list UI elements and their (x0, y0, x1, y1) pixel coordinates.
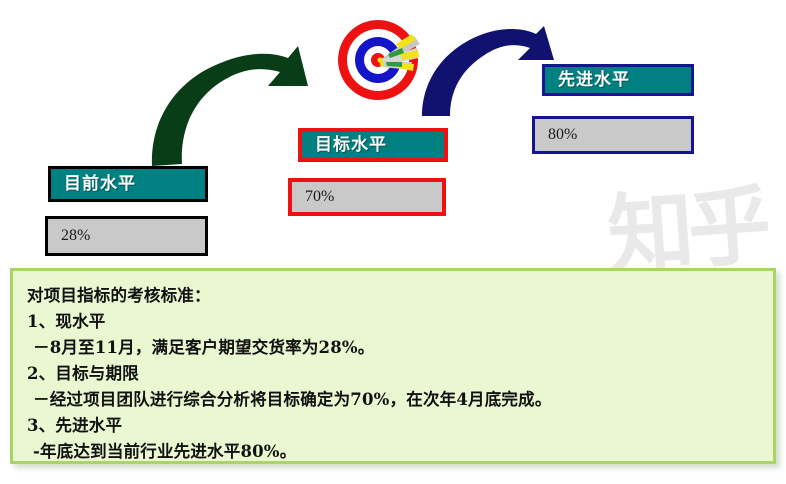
notes-line-5: 3、先进水平 (27, 413, 759, 439)
notes-line-3: 2、目标与期限 (27, 361, 759, 387)
dartboard-target-icon (336, 16, 424, 104)
slide-canvas: 知乎 (0, 0, 786, 484)
level-value-advanced: 80% (532, 116, 694, 154)
level-title-current: 目前水平 (48, 166, 208, 202)
level-group-target: 目标水平 70% (288, 128, 448, 216)
level-group-current: 目前水平 28% (45, 166, 208, 256)
level-value-current: 28% (45, 216, 208, 256)
level-title-target: 目标水平 (298, 128, 448, 162)
notes-line-0: 对项目指标的考核标准： (27, 283, 759, 309)
notes-line-2: －8月至11月，满足客户期望交货率为28%。 (27, 335, 759, 361)
level-value-target: 70% (288, 178, 446, 216)
notes-line-4: －经过项目团队进行综合分析将目标确定为70%，在次年4月底完成。 (27, 387, 759, 413)
level-title-advanced: 先进水平 (542, 64, 694, 96)
notes-line-1: 1、现水平 (27, 309, 759, 335)
notes-panel: 对项目指标的考核标准： 1、现水平 －8月至11月，满足客户期望交货率为28%。… (10, 268, 776, 464)
notes-line-6: -年底达到当前行业先进水平80%。 (27, 439, 759, 464)
level-group-advanced: 先进水平 80% (532, 64, 694, 154)
